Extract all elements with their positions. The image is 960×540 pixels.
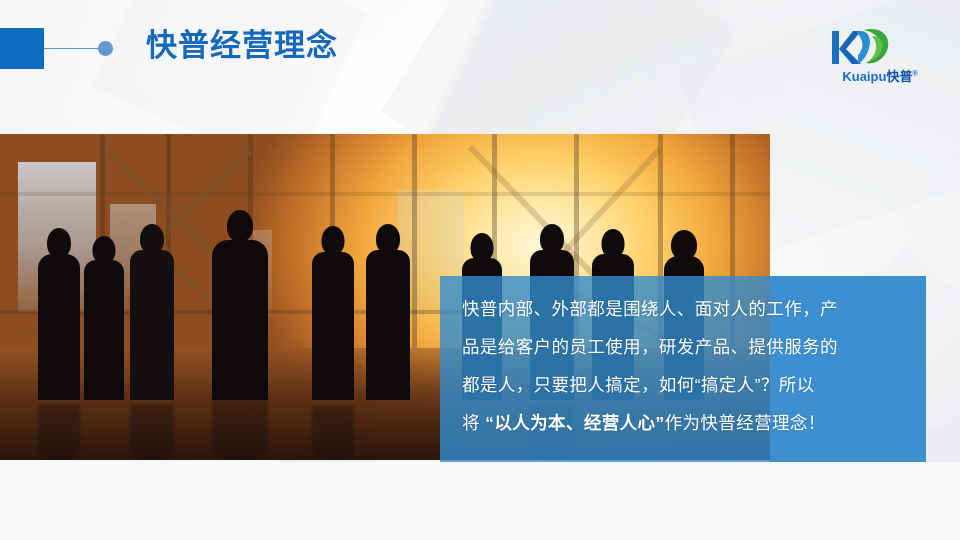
philosophy-line-3: 都是人，只要把人搞定，如何“搞定人”？所以 (462, 366, 904, 404)
photo-person-reflection (312, 406, 354, 460)
page-title: 快普经营理念 (146, 25, 338, 67)
philosophy-line-4-suffix: 作为快普经营理念！ (665, 413, 826, 433)
header-accent-square (0, 28, 44, 69)
slide-bottom-area (0, 462, 960, 540)
photo-person-silhouette (366, 250, 410, 400)
philosophy-emphasis: “以人为本、经营人心” (485, 413, 664, 433)
photo-person-silhouette (130, 250, 174, 400)
photo-window-rail (0, 192, 770, 196)
slide-canvas: 快普经营理念 Kuaipu快普® (0, 0, 960, 540)
philosophy-line-4-prefix: 将 (462, 413, 485, 433)
photo-person-reflection (38, 404, 80, 460)
photo-person-reflection (130, 404, 174, 460)
philosophy-text: 快普内部、外部都是围绕人、面对人的工作，产 品是给客户的员工使用，研发产品、提供… (462, 290, 904, 442)
philosophy-line-2: 品是给客户的员工使用，研发产品、提供服务的 (462, 328, 904, 366)
logo-latin-text: Kuaipu (842, 69, 886, 84)
header-connector-line (44, 48, 100, 49)
photo-window-mullion (412, 134, 417, 348)
photo-person-silhouette (38, 254, 80, 400)
logo: Kuaipu快普® (820, 26, 940, 84)
kuaipu-logo-mark-icon (828, 26, 900, 66)
photo-person-reflection (212, 400, 268, 460)
logo-text: Kuaipu快普® (820, 66, 940, 85)
photo-person-silhouette (84, 260, 124, 400)
logo-chinese-text: 快普 (886, 69, 912, 84)
header-connector-dot-icon (98, 41, 113, 56)
photo-person-silhouette (212, 240, 268, 400)
photo-person-silhouette (312, 252, 354, 400)
logo-registered-mark: ® (912, 71, 917, 78)
philosophy-text-panel: 快普内部、外部都是围绕人、面对人的工作，产 品是给客户的员工使用，研发产品、提供… (440, 276, 926, 462)
philosophy-line-1: 快普内部、外部都是围绕人、面对人的工作，产 (462, 290, 904, 328)
philosophy-line-4: 将 “以人为本、经营人心”作为快普经营理念！ (462, 404, 904, 442)
